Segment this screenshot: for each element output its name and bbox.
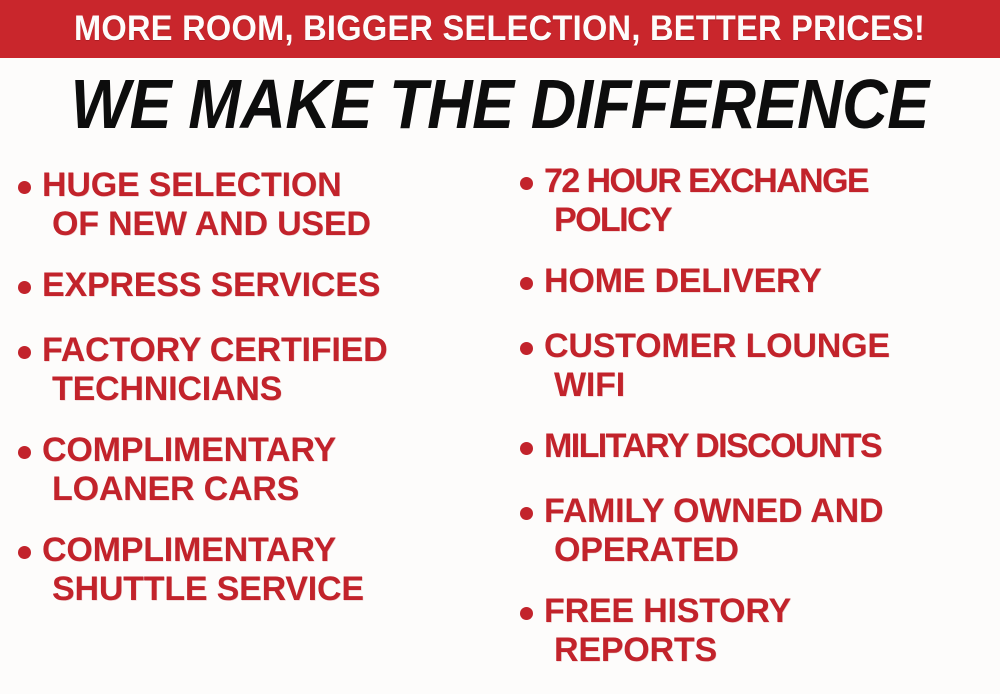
benefit-line-1: FACTORY CERTIFIED — [42, 331, 387, 369]
bullet-dot-icon — [520, 507, 533, 520]
bullet-dot-icon — [18, 546, 31, 559]
list-item: EXPRESS SERVICES — [18, 266, 496, 305]
list-item: 72 HOUR EXCHANGE POLICY — [520, 162, 998, 240]
bullet-dot-icon — [18, 446, 31, 459]
benefit-text: FAMILY OWNED AND OPERATED — [544, 492, 883, 570]
benefit-line-1: COMPLIMENTARY — [42, 431, 336, 469]
benefit-text: FREE HISTORY REPORTS — [544, 592, 791, 670]
bullet-dot-icon — [520, 277, 533, 290]
list-item: FAMILY OWNED AND OPERATED — [520, 492, 998, 570]
benefits-column-left: HUGE SELECTION OF NEW AND USED EXPRESS S… — [0, 158, 500, 694]
benefit-line-1: FAMILY OWNED AND — [544, 492, 883, 530]
benefit-text: 72 HOUR EXCHANGE POLICY — [544, 162, 868, 240]
list-item: HUGE SELECTION OF NEW AND USED — [18, 166, 496, 244]
list-item: HOME DELIVERY — [520, 262, 998, 301]
benefits-columns: HUGE SELECTION OF NEW AND USED EXPRESS S… — [0, 158, 1000, 694]
benefit-line-1: COMPLIMENTARY — [42, 531, 336, 569]
benefit-line-2: TECHNICIANS — [42, 370, 387, 409]
bullet-dot-icon — [520, 342, 533, 355]
benefit-text: MILITARY DISCOUNTS — [544, 427, 881, 466]
banner-headline-text: MORE ROOM, BIGGER SELECTION, BETTER PRIC… — [74, 11, 925, 47]
benefit-line-2: WIFI — [544, 366, 890, 405]
benefit-line-1: HOME DELIVERY — [544, 262, 822, 300]
list-item: FREE HISTORY REPORTS — [520, 592, 998, 670]
benefit-line-2: REPORTS — [544, 631, 791, 670]
benefit-line-1: EXPRESS SERVICES — [42, 266, 380, 304]
list-item: MILITARY DISCOUNTS — [520, 427, 998, 466]
benefit-line-1: HUGE SELECTION — [42, 166, 341, 204]
bullet-dot-icon — [18, 346, 31, 359]
benefits-column-right: 72 HOUR EXCHANGE POLICY HOME DELIVERY CU… — [500, 158, 1000, 694]
benefit-line-1: 72 HOUR EXCHANGE — [544, 162, 868, 200]
benefit-line-2: OPERATED — [544, 531, 883, 570]
benefit-line-1: FREE HISTORY — [544, 592, 791, 630]
benefit-line-2: SHUTTLE SERVICE — [42, 570, 364, 609]
main-headline-container: WE MAKE THE DIFFERENCE — [0, 66, 1000, 142]
bullet-dot-icon — [18, 281, 31, 294]
promo-poster: MORE ROOM, BIGGER SELECTION, BETTER PRIC… — [0, 0, 1000, 694]
bullet-dot-icon — [18, 181, 31, 194]
top-banner: MORE ROOM, BIGGER SELECTION, BETTER PRIC… — [0, 0, 1000, 58]
benefit-text: HOME DELIVERY — [544, 262, 822, 301]
list-item: COMPLIMENTARY LOANER CARS — [18, 431, 496, 509]
benefit-line-2: POLICY — [544, 201, 868, 240]
benefit-line-1: MILITARY DISCOUNTS — [544, 427, 881, 465]
benefit-line-2: LOANER CARS — [42, 470, 336, 509]
bullet-dot-icon — [520, 607, 533, 620]
list-item: COMPLIMENTARY SHUTTLE SERVICE — [18, 531, 496, 609]
benefit-line-2: OF NEW AND USED — [42, 205, 371, 244]
benefit-text: EXPRESS SERVICES — [42, 266, 380, 305]
list-item: FACTORY CERTIFIED TECHNICIANS — [18, 331, 496, 409]
benefit-text: COMPLIMENTARY SHUTTLE SERVICE — [42, 531, 364, 609]
page-title: WE MAKE THE DIFFERENCE — [71, 67, 929, 141]
benefit-line-1: CUSTOMER LOUNGE — [544, 327, 890, 365]
bullet-dot-icon — [520, 177, 533, 190]
benefit-text: CUSTOMER LOUNGE WIFI — [544, 327, 890, 405]
benefit-text: FACTORY CERTIFIED TECHNICIANS — [42, 331, 387, 409]
benefit-text: COMPLIMENTARY LOANER CARS — [42, 431, 336, 509]
list-item: CUSTOMER LOUNGE WIFI — [520, 327, 998, 405]
benefit-text: HUGE SELECTION OF NEW AND USED — [42, 166, 371, 244]
bullet-dot-icon — [520, 442, 533, 455]
